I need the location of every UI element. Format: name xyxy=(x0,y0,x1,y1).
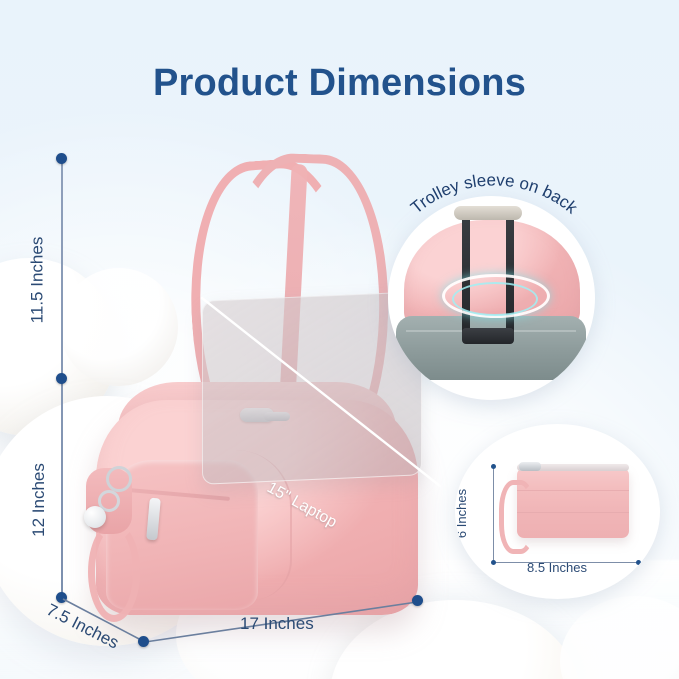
pouch-height-measure-line xyxy=(493,466,494,562)
measure-endpoint-dot xyxy=(56,153,67,164)
measure-endpoint-dot xyxy=(636,560,641,565)
dimension-label-width: 17 Inches xyxy=(240,614,314,634)
inset-pouch: 6 Inches 8.5 Inches xyxy=(455,424,660,599)
pouch-wrist-strap xyxy=(499,480,535,554)
measure-endpoint-dot xyxy=(491,464,496,469)
highlight-ring-icon xyxy=(452,282,538,316)
suitcase-icon xyxy=(396,316,586,380)
product-dimensions-infographic: Product Dimensions 15" Laptop xyxy=(0,0,679,679)
pouch-dimension-label-width: 8.5 Inches xyxy=(527,560,587,575)
measure-endpoint-dot xyxy=(412,595,423,606)
dimension-label-height-lower: 12 Inches xyxy=(29,463,49,537)
measure-midpoint-dot xyxy=(56,373,67,384)
bag-knob-icon xyxy=(84,506,106,528)
trolley-handle-grip xyxy=(454,206,522,220)
metal-ring-icon xyxy=(106,466,132,492)
measure-vertex-dot xyxy=(491,560,496,565)
trolley-handle-base xyxy=(462,328,514,344)
pouch-dimension-label-height: 6 Inches xyxy=(455,489,469,538)
page-title: Product Dimensions xyxy=(0,62,679,105)
inset-trolley-sleeve xyxy=(388,196,595,400)
dimension-label-height-upper: 11.5 Inches xyxy=(27,237,47,324)
pouch-zipper-pull-icon xyxy=(519,462,541,471)
measure-vertex-dot xyxy=(138,636,149,647)
